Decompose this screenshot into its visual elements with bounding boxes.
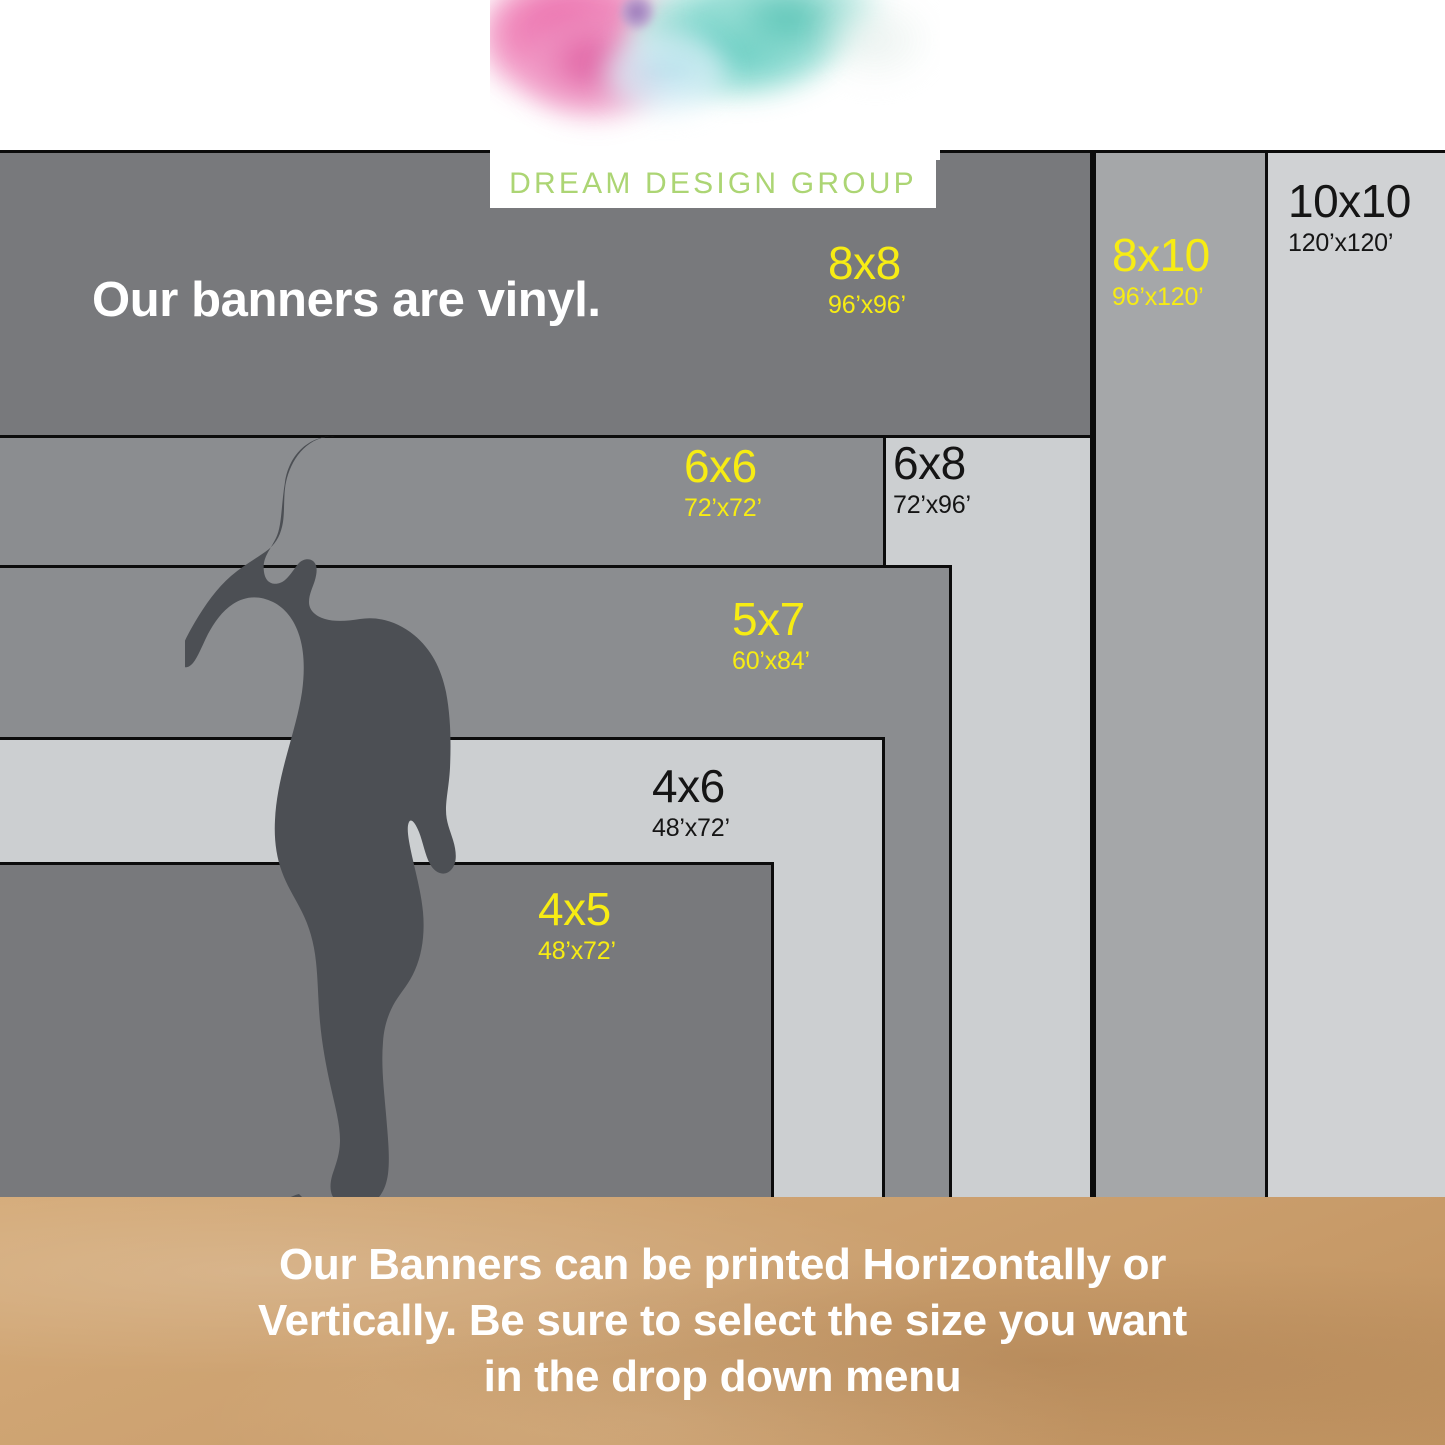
banner-dimensions-8x8: 96’x96’ <box>828 293 906 318</box>
caption-line-1: Our Banners can be printed Horizontally … <box>279 1237 1166 1293</box>
banner-label-4x5: 4x5 48’x72’ <box>538 886 616 964</box>
caption-band: Our Banners can be printed Horizontally … <box>0 1197 1445 1445</box>
banner-label-6x8: 6x8 72’x96’ <box>893 440 971 518</box>
banner-size-4x6: 4x6 <box>652 763 730 809</box>
banner-label-5x7: 5x7 60’x84’ <box>732 596 810 674</box>
caption-line-3: in the drop down menu <box>484 1349 962 1405</box>
brand-wordmark-plate: DREAM DESIGN GROUP <box>490 160 936 208</box>
banner-dimensions-10x10: 120’x120’ <box>1288 231 1411 256</box>
banner-size-6x8: 6x8 <box>893 440 971 486</box>
caption-line-2: Vertically. Be sure to select the size y… <box>258 1293 1187 1349</box>
banner-dimensions-6x8: 72’x96’ <box>893 493 971 518</box>
banner-size-10x10: 10x10 <box>1288 178 1411 224</box>
banner-size-8x10: 8x10 <box>1112 232 1210 278</box>
banner-size-5x7: 5x7 <box>732 596 810 642</box>
watercolor-logo-icon <box>490 0 940 160</box>
banner-size-chart: 8x8 96’x96’ 8x10 96’x120’ 10x10 120’x120… <box>0 0 1445 1445</box>
banner-rect-4x5 <box>0 862 774 1203</box>
headline-text: Our banners are vinyl. <box>92 272 601 328</box>
brand-wordmark: DREAM DESIGN GROUP <box>509 167 917 201</box>
banner-size-6x6: 6x6 <box>684 443 762 489</box>
banner-label-6x6: 6x6 72’x72’ <box>684 443 762 521</box>
banner-size-4x5: 4x5 <box>538 886 616 932</box>
banner-dimensions-8x10: 96’x120’ <box>1112 285 1210 310</box>
banner-dimensions-6x6: 72’x72’ <box>684 496 762 521</box>
banner-dimensions-4x5: 48’x72’ <box>538 939 616 964</box>
banner-label-10x10: 10x10 120’x120’ <box>1288 178 1411 256</box>
banner-label-8x10: 8x10 96’x120’ <box>1112 232 1210 310</box>
banner-size-8x8: 8x8 <box>828 240 906 286</box>
banner-dimensions-4x6: 48’x72’ <box>652 816 730 841</box>
banner-label-8x8: 8x8 96’x96’ <box>828 240 906 318</box>
banner-dimensions-5x7: 60’x84’ <box>732 649 810 674</box>
banner-label-4x6: 4x6 48’x72’ <box>652 763 730 841</box>
